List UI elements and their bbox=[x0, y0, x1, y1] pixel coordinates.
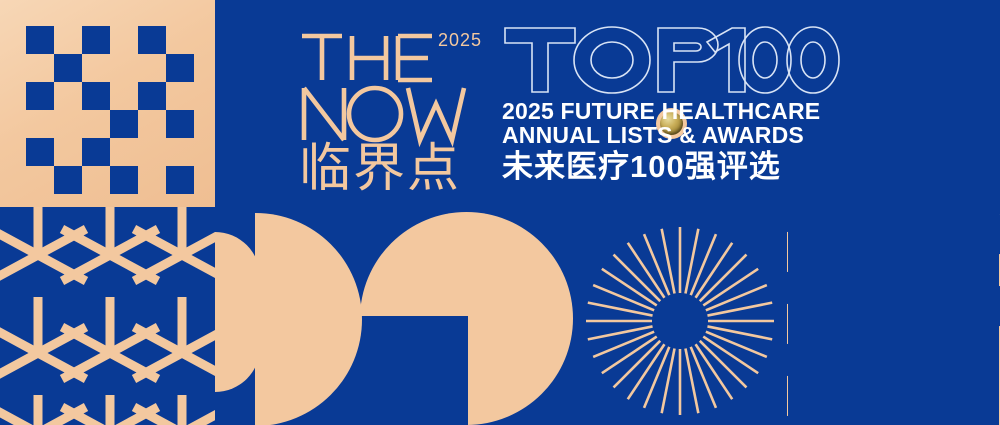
sunburst-ray bbox=[700, 255, 747, 302]
checker-cell bbox=[54, 54, 82, 82]
checker-cell bbox=[82, 138, 110, 166]
checker-cell bbox=[138, 82, 166, 110]
checker-cell bbox=[82, 26, 110, 54]
sunburst-radial-pattern bbox=[585, 226, 775, 416]
sunburst-ray bbox=[614, 255, 661, 302]
checker-cell bbox=[26, 138, 54, 166]
checker-cell bbox=[138, 26, 166, 54]
headline-block: 2025 FUTURE HEALTHCARE ANNUAL LISTS & AW… bbox=[502, 24, 847, 184]
logo-the-now: 2025 临界点 bbox=[296, 22, 491, 192]
hexagon-lattice-svg bbox=[0, 207, 215, 425]
checker-cell bbox=[82, 82, 110, 110]
diagonal-stripes-svg bbox=[787, 208, 1000, 425]
checker-cell bbox=[26, 26, 54, 54]
headline-cn-line: 未来医疗100强评选 bbox=[502, 149, 847, 184]
notched-circle-svg bbox=[360, 212, 573, 425]
headline-en-line2: ANNUAL LISTS & AWARDS bbox=[502, 124, 847, 148]
large-semicircle bbox=[255, 213, 362, 425]
hexagon-lattice-pattern bbox=[0, 207, 215, 425]
circle-with-square-notch bbox=[360, 212, 573, 425]
checker-cell bbox=[26, 82, 54, 110]
sunburst-ray bbox=[614, 341, 661, 388]
checker-cell bbox=[110, 166, 138, 194]
checker-cell bbox=[110, 110, 138, 138]
diagonal-stripes-pattern bbox=[787, 208, 1000, 425]
checker-cell bbox=[166, 166, 194, 194]
logo-svg: 2025 临界点 bbox=[296, 22, 491, 192]
logo-chinese: 临界点 bbox=[299, 140, 461, 192]
sunburst-svg bbox=[585, 226, 775, 416]
checker-cell bbox=[166, 110, 194, 138]
checker-cell bbox=[54, 166, 82, 194]
headline-en-line1: 2025 FUTURE HEALTHCARE bbox=[502, 100, 847, 124]
checkerboard-pattern bbox=[0, 0, 215, 207]
top100-title bbox=[502, 24, 840, 96]
banner: 2025 临界点 bbox=[0, 0, 1000, 425]
small-semicircle bbox=[215, 232, 260, 392]
sunburst-ray bbox=[700, 341, 747, 388]
logo-year: 2025 bbox=[438, 30, 482, 50]
checker-cell bbox=[166, 54, 194, 82]
